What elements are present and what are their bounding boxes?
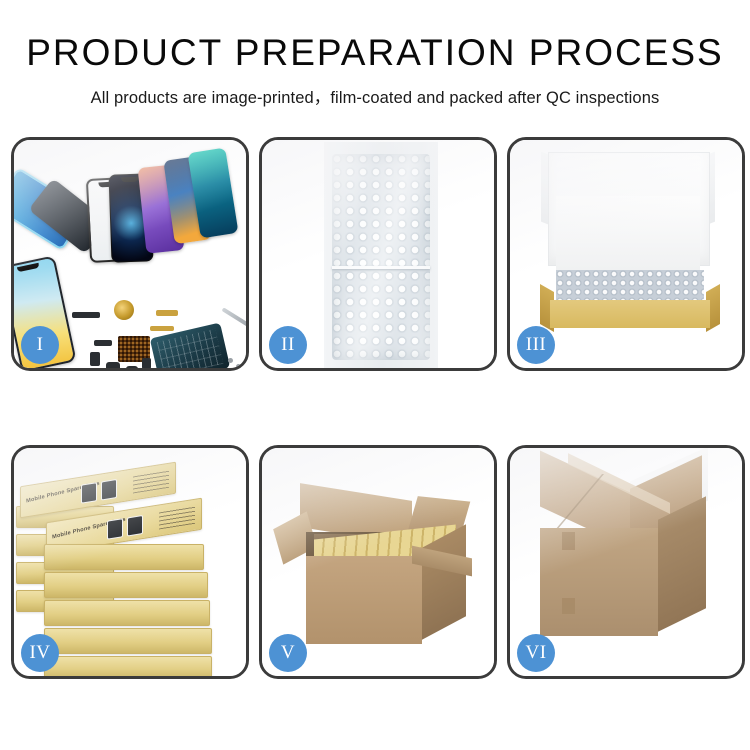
carton-front-face (540, 528, 658, 636)
part-screwdriver-icon (222, 307, 246, 328)
part-connector-b (90, 352, 100, 366)
process-step-grid: I II III (11, 137, 739, 679)
part-flex-cable-b (150, 326, 174, 331)
page-subtitle: All products are image-printed，film-coat… (0, 84, 750, 108)
page-title: PRODUCT PREPARATION PROCESS (0, 34, 750, 73)
part-sim-tray (142, 358, 151, 368)
part-connector-a (94, 340, 112, 346)
step-panel-5[interactable]: V (259, 445, 497, 679)
part-flex-cable-a (156, 310, 178, 316)
box-print-spec-lines (133, 469, 169, 494)
step-badge-2: II (269, 326, 307, 364)
carton-right-face (658, 496, 706, 631)
phone-notch-icon (121, 177, 138, 183)
box-print-phone-icon-b (101, 479, 117, 501)
carton-front-panel (306, 556, 422, 644)
page-header: PRODUCT PREPARATION PROCESS All products… (0, 0, 750, 108)
box-inner-foam (556, 196, 700, 270)
step-panel-4[interactable]: Mobile Phone Spare Parts Mobile Phone Sp… (11, 445, 249, 679)
step-panel-3[interactable]: III (507, 137, 745, 371)
box-front-panel (550, 300, 710, 328)
box-print-phone-icon-a (107, 518, 123, 540)
part-earpiece-mesh (72, 312, 100, 318)
part-screw-b (236, 364, 241, 368)
step-badge-6: VI (517, 634, 555, 672)
step-badge-5: V (269, 634, 307, 672)
stacked-box-front-4 (44, 628, 212, 654)
part-screw-a (228, 358, 233, 363)
step-badge-3: III (517, 326, 555, 364)
phone-notch-icon (17, 263, 39, 272)
step-panel-1[interactable]: I (11, 137, 249, 371)
step-badge-4: IV (21, 634, 59, 672)
bubble-wrap-gloss (332, 154, 430, 360)
step-badge-1: I (21, 326, 59, 364)
step-panel-6[interactable]: VI (507, 445, 745, 679)
carton-tape-tab-lower (562, 598, 575, 614)
bubble-wrap-seam (332, 266, 430, 269)
bubble-wrapped-item-in-box (556, 270, 704, 302)
step-panel-2[interactable]: II (259, 137, 497, 371)
part-vibrator (126, 366, 138, 368)
carton-tape-tab-upper (562, 532, 575, 550)
part-speaker-module (114, 300, 134, 320)
stacked-box-front-2 (44, 572, 208, 598)
part-camera-module (106, 362, 120, 368)
stacked-box-front-1 (44, 544, 204, 570)
box-print-phone-icon-a (81, 482, 97, 504)
box-print-spec-lines (159, 505, 195, 530)
stacked-box-front-3 (44, 600, 210, 626)
box-print-phone-icon-b (127, 515, 143, 537)
stacked-box-front-5 (44, 656, 212, 676)
